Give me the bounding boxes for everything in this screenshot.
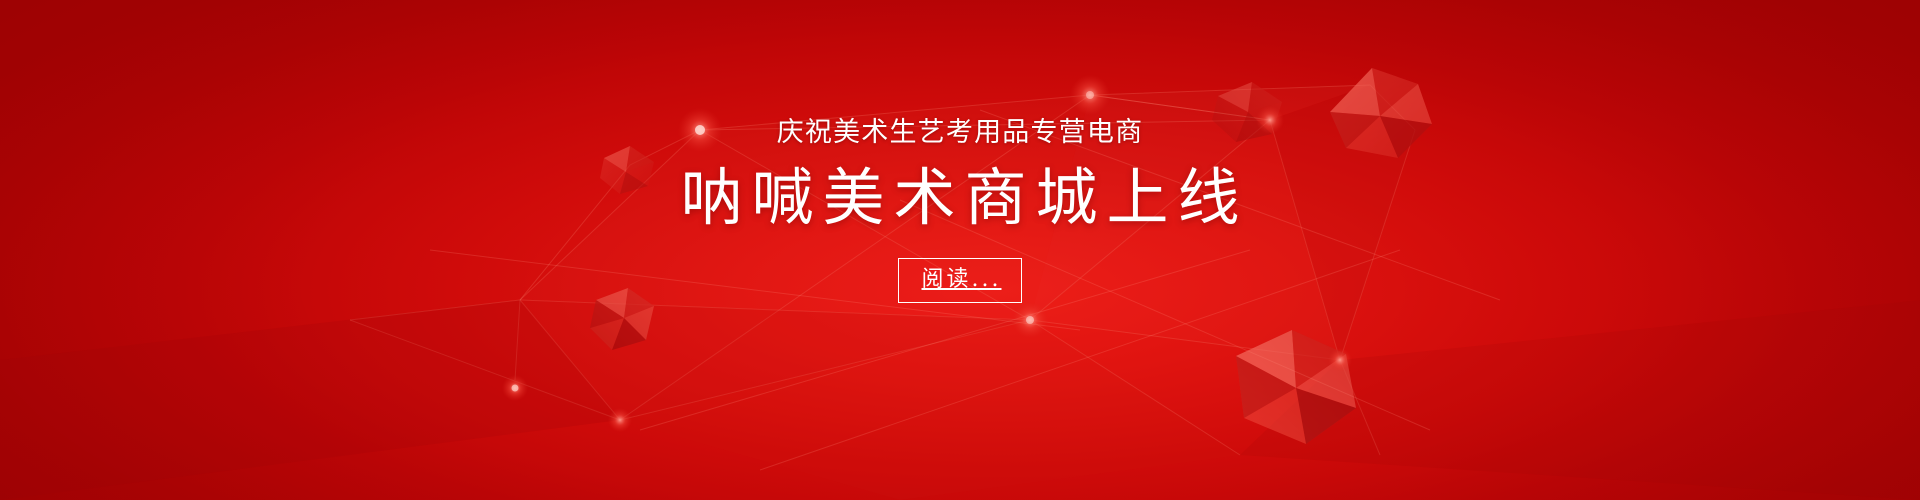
hero-banner: 庆祝美术生艺考用品专营电商 呐喊美术商城上线 阅读... — [0, 0, 1920, 500]
banner-title: 呐喊美术商城上线 — [671, 165, 1248, 232]
read-more-button[interactable]: 阅读... — [898, 258, 1023, 304]
cta-container: 阅读... — [898, 258, 1023, 304]
banner-content: 庆祝美术生艺考用品专营电商 呐喊美术商城上线 阅读... — [0, 0, 1920, 500]
banner-subtitle: 庆祝美术生艺考用品专营电商 — [777, 118, 1144, 148]
